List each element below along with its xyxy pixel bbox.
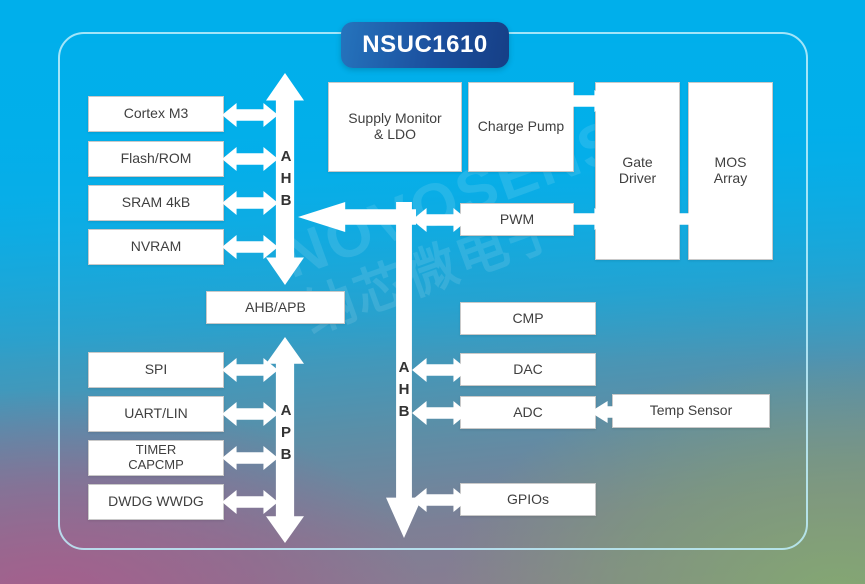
block-uart-lin: UART/LIN [88, 396, 224, 432]
block-nvram: NVRAM [88, 229, 224, 265]
block-sram-4kb: SRAM 4kB [88, 185, 224, 221]
block-cortex-m3: Cortex M3 [88, 96, 224, 132]
bus-ahb-left-label: A H B [278, 146, 294, 211]
block-ahb-apb-bridge: AHB/APB [206, 291, 345, 324]
block-supply-monitor-ldo: Supply Monitor & LDO [328, 82, 462, 172]
bus-ahb-right-label: A H B [396, 357, 412, 422]
block-gpios: GPIOs [460, 483, 596, 516]
block-mos-array: MOS Array [688, 82, 773, 260]
block-spi: SPI [88, 352, 224, 388]
block-temp-sensor: Temp Sensor [612, 394, 770, 428]
block-pwm: PWM [460, 203, 574, 236]
chip-title-text: NSUC1610 [362, 31, 487, 59]
block-diagram-canvas: NOVOSENSE 纳芯微电子 NSUC1610 Cortex M3 Flash… [0, 0, 865, 584]
block-dac: DAC [460, 353, 596, 386]
block-dwdg-wwdg: DWDG WWDG [88, 484, 224, 520]
block-timer-capcmp: TIMER CAPCMP [88, 440, 224, 476]
block-adc: ADC [460, 396, 596, 429]
block-cmp: CMP [460, 302, 596, 335]
block-gate-driver: Gate Driver [595, 82, 680, 260]
block-flash-rom: Flash/ROM [88, 141, 224, 177]
chip-title-badge: NSUC1610 [341, 22, 509, 68]
block-charge-pump: Charge Pump [468, 82, 574, 172]
bus-apb-left-label: A P B [278, 400, 294, 465]
